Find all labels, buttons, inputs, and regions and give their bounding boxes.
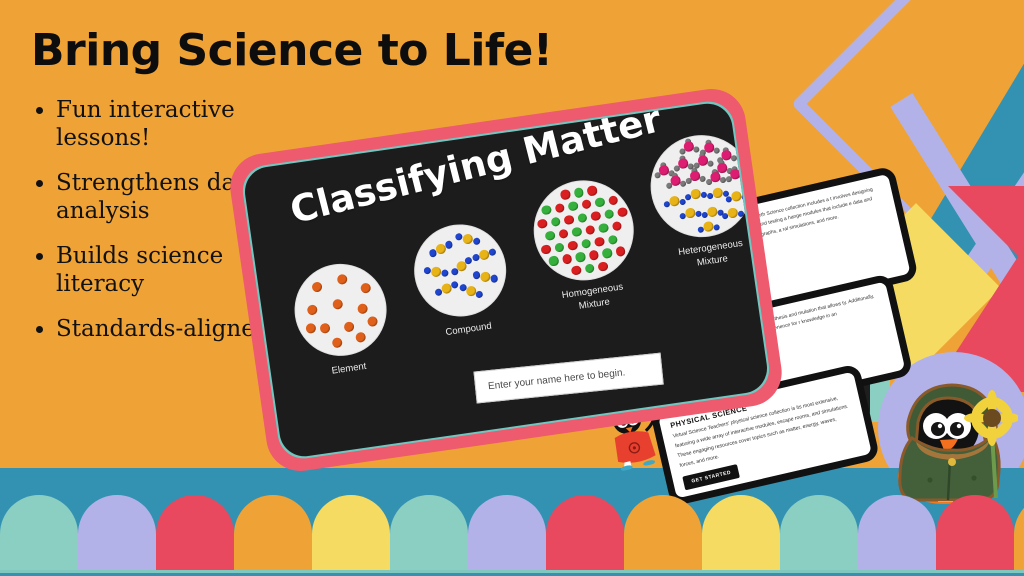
scallop-shape — [390, 495, 468, 573]
atom-dot — [490, 275, 498, 283]
atom-dot — [581, 238, 591, 248]
atom-dot — [608, 195, 618, 205]
diagram-element[interactable]: Element — [288, 258, 392, 362]
atom-dot — [575, 252, 585, 262]
atom-dot — [331, 337, 343, 349]
atom-dot — [479, 249, 490, 260]
atom-dot — [678, 158, 688, 168]
atom-dot — [441, 283, 452, 294]
atom-dot — [551, 217, 561, 227]
atom-dot — [456, 261, 467, 272]
atom-dot — [568, 201, 578, 211]
atom-dot — [462, 233, 473, 244]
atom-dot — [669, 196, 680, 207]
scallop-shape — [234, 495, 312, 573]
atom-dot — [555, 203, 565, 213]
atom-dot — [659, 165, 669, 175]
atom-dot — [360, 282, 372, 294]
atom-dot — [489, 248, 497, 256]
bottom-teal-line — [0, 570, 1024, 573]
scallop-border — [0, 495, 1024, 573]
atom-dot — [581, 199, 591, 209]
atom-dot — [541, 244, 551, 254]
diagram-compound[interactable]: Compound — [408, 218, 512, 322]
scallop-shape — [936, 495, 1014, 573]
atom-dot — [731, 191, 742, 202]
scallop-shape — [312, 495, 390, 573]
scallop-shape — [468, 495, 546, 573]
atom-dot — [571, 265, 581, 275]
atom-dot — [564, 215, 574, 225]
atom-dot — [604, 209, 614, 219]
atom-dot — [336, 273, 348, 285]
atom-dot — [562, 254, 572, 264]
atom-dot — [587, 186, 597, 196]
scallop-shape — [702, 495, 780, 573]
atom-dot — [441, 269, 449, 277]
atom-dot — [585, 264, 595, 274]
atom-dot — [615, 246, 625, 256]
atom-dot — [537, 219, 547, 229]
atom-dot — [717, 163, 727, 173]
atom-dot — [430, 266, 441, 277]
atom-dot — [690, 171, 700, 181]
atom-dot — [721, 150, 731, 160]
atom-dot — [585, 225, 595, 235]
atom-dot — [617, 207, 627, 217]
atom-dot — [730, 169, 740, 179]
atom-dot — [712, 187, 723, 198]
atom-dot — [332, 298, 344, 310]
atom-dot — [598, 262, 608, 272]
atom-dot — [591, 211, 601, 221]
scallop-shape — [0, 495, 78, 573]
atom-dot — [472, 238, 480, 246]
atom-dot — [577, 213, 587, 223]
atom-dot — [690, 189, 701, 200]
atom-dot — [545, 230, 555, 240]
atom-dot — [367, 316, 379, 328]
atom-dot — [684, 141, 694, 151]
atom-dot — [574, 188, 584, 198]
slide-canvas: Bring Science to Life! Fun interactive l… — [0, 0, 1024, 576]
atom-dot — [319, 322, 331, 334]
atom-dot — [343, 321, 355, 333]
atom-dot — [713, 147, 720, 154]
page-title: Bring Science to Life! — [31, 25, 552, 76]
atom-dot — [560, 189, 570, 199]
earth-science-body: arth Science collection includes a t inv… — [745, 174, 897, 249]
atom-dot — [670, 176, 680, 186]
atom-dot — [475, 290, 483, 298]
atom-dot — [568, 240, 578, 250]
atom-dot — [357, 303, 369, 315]
atom-dot — [727, 208, 738, 219]
atom-dot — [713, 224, 721, 232]
atom-dot — [602, 248, 612, 258]
atom-dot — [480, 271, 491, 282]
atom-dot — [306, 304, 318, 316]
atom-dot — [355, 331, 367, 343]
atom-dot — [594, 236, 604, 246]
scallop-shape — [780, 495, 858, 573]
atom-dot — [549, 256, 559, 266]
scallop-shape — [78, 495, 156, 573]
atom-dot — [541, 205, 551, 215]
atom-dot — [589, 250, 599, 260]
atom-dot — [608, 234, 618, 244]
name-input-placeholder: Enter your name here to begin. — [476, 367, 626, 393]
penguin-hooded-mascot — [886, 376, 1018, 504]
atom-dot — [707, 206, 718, 217]
atom-dot — [698, 155, 708, 165]
scallop-shape — [624, 495, 702, 573]
atom-dot — [554, 242, 564, 252]
atom-dot — [685, 208, 696, 219]
scallop-shape — [858, 495, 936, 573]
atom-dot — [572, 227, 582, 237]
scallop-shape — [1014, 495, 1024, 573]
atom-dot — [737, 210, 745, 218]
diagram-label: Element — [294, 356, 405, 384]
diagram-homogeneous-mixture[interactable]: Homogeneous Mixture — [527, 174, 640, 287]
atom-dot — [707, 160, 714, 167]
atom-dot — [704, 142, 714, 152]
atom-dot — [730, 155, 737, 162]
diagram-label: Compound — [413, 316, 524, 344]
atom-dot — [558, 229, 568, 239]
atom-dot — [710, 172, 720, 182]
atom-dot — [595, 197, 605, 207]
atom-dot — [305, 322, 317, 334]
scallop-shape — [156, 495, 234, 573]
atom-dot — [451, 281, 459, 289]
atom-dot — [435, 243, 446, 254]
list-item: Fun interactive lessons! — [30, 96, 300, 152]
diagram-label: Homogeneous Mixture — [534, 278, 652, 320]
atom-dot — [612, 221, 622, 231]
atom-dot — [445, 241, 453, 249]
atom-dot — [311, 281, 323, 293]
scallop-shape — [546, 495, 624, 573]
atom-dot — [703, 221, 714, 232]
atom-dot — [598, 223, 608, 233]
